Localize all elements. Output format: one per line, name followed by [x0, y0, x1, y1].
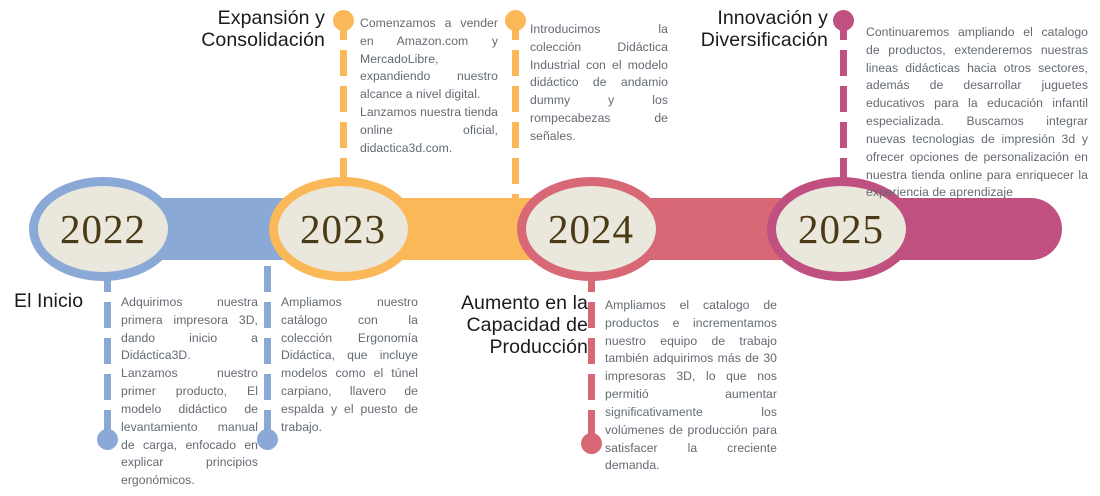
connector-endpoint-dot: [833, 10, 854, 31]
milestone-body-2025-above: Continuaremos ampliando el catalogo de p…: [866, 24, 1088, 202]
milestone-body-2024-above: Introducimos la colección Didáctica Indu…: [530, 21, 668, 146]
body-paragraph: expandiendo nuestro alcance a nivel digi…: [360, 68, 498, 104]
year-label: 2022: [60, 209, 146, 250]
connector-2023-below: [264, 266, 271, 446]
heading-line: Innovación y: [650, 8, 828, 30]
connector-endpoint-dot: [97, 429, 118, 450]
heading-line: Consolidación: [150, 30, 325, 52]
body-paragraph: Continuaremos ampliando el catalogo de p…: [866, 24, 1088, 202]
connector-dash: [588, 266, 595, 450]
timeline-infographic: 2022 2023 2024 2025 El Inicio Expansión …: [0, 0, 1100, 496]
body-paragraph: Lanzamos nuestra tienda online oficial, …: [360, 104, 498, 157]
body-paragraph: Ampliamos nuestro catálogo con la colecc…: [281, 294, 418, 437]
heading-line: Producción: [420, 337, 588, 359]
connector-2024-above: [512, 14, 519, 210]
connector-endpoint-dot: [581, 433, 602, 454]
connector-endpoint-dot: [333, 10, 354, 31]
year-node-2023[interactable]: 2023: [269, 177, 417, 281]
milestone-body-2024-below: Ampliamos el catalogo de productos e inc…: [605, 297, 777, 475]
heading-line: Aumento en la: [420, 293, 588, 315]
heading-line: El Inicio: [14, 290, 83, 312]
year-node-2022[interactable]: 2022: [29, 177, 177, 281]
body-paragraph: Comenzamos a vender en Amazon.com y Merc…: [360, 15, 498, 68]
milestone-heading-aumento: Aumento en la Capacidad de Producción: [420, 293, 588, 358]
connector-2024-below: [588, 266, 595, 450]
connector-dash: [512, 14, 519, 210]
body-paragraph: Adquirimos nuestra primera impresora 3D,…: [121, 294, 258, 365]
milestone-body-2023-below: Ampliamos nuestro catálogo con la colecc…: [281, 294, 418, 437]
milestone-body-2022: Adquirimos nuestra primera impresora 3D,…: [121, 294, 258, 490]
connector-endpoint-dot: [505, 10, 526, 31]
heading-line: Expansión y: [150, 8, 325, 30]
connector-dash: [264, 266, 271, 446]
heading-line: Diversificación: [650, 30, 828, 52]
heading-line: Capacidad de: [420, 315, 588, 337]
year-node-2024[interactable]: 2024: [517, 177, 665, 281]
milestone-heading-el-inicio: El Inicio: [14, 291, 114, 313]
year-label: 2024: [548, 209, 634, 250]
milestone-body-2023-above: Comenzamos a vender en Amazon.com y Merc…: [360, 15, 498, 158]
body-paragraph: Introducimos la colección Didáctica Indu…: [530, 21, 668, 146]
milestone-heading-innovacion: Innovación y Diversificación: [650, 8, 828, 52]
connector-endpoint-dot: [257, 429, 278, 450]
body-paragraph: Ampliamos el catalogo de productos e inc…: [605, 297, 777, 475]
year-label: 2025: [798, 209, 884, 250]
year-label: 2023: [300, 209, 386, 250]
milestone-heading-expansion: Expansión y Consolidación: [150, 8, 325, 52]
body-paragraph: Lanzamos nuestro primer producto, El mod…: [121, 365, 258, 490]
